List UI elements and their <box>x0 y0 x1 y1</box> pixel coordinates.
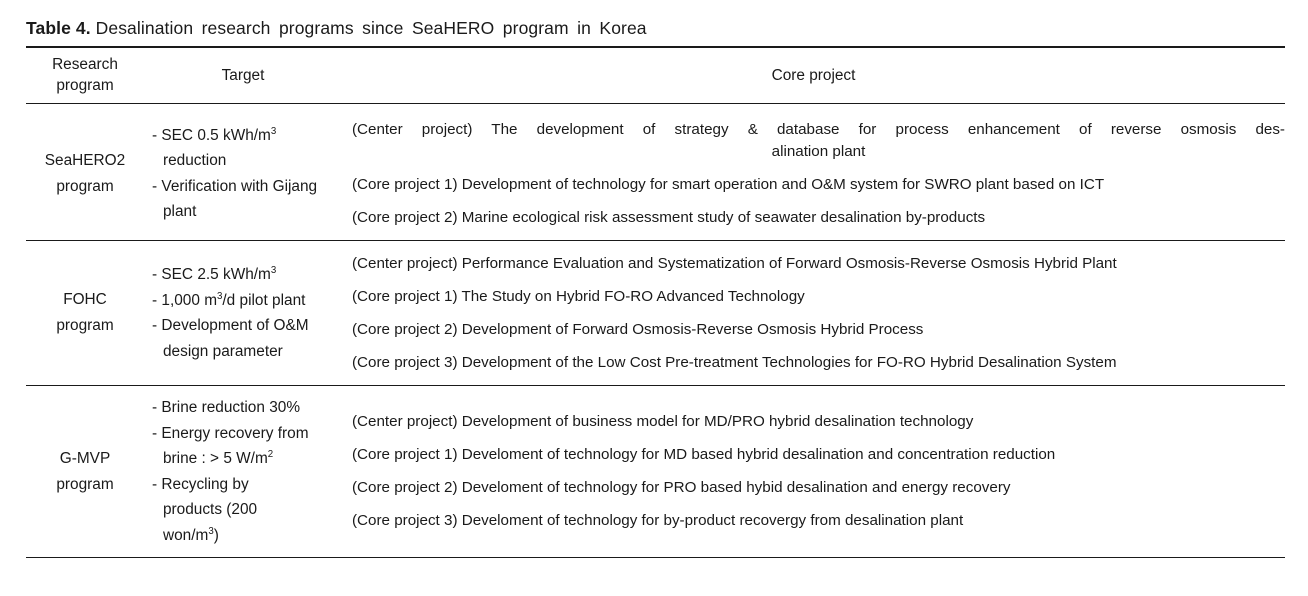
table-page: Table 4. Desalination research programs … <box>0 0 1308 596</box>
target-text-cont: design parameter <box>163 343 283 360</box>
table-head: Research program Target Core project <box>26 47 1285 104</box>
program-name-line1: FOHC <box>28 287 142 313</box>
target-text: - Development of O&M <box>152 317 309 334</box>
core-project-line2: alination plant <box>352 141 1285 163</box>
target-text-post: /d pilot plant <box>222 292 305 309</box>
core-project-item: (Core project 3) Develoment of technolog… <box>352 505 1285 538</box>
cell-target: - SEC 0.5 kWh/m3 reduction - Verificatio… <box>144 107 342 241</box>
header-program-line2: program <box>26 75 144 96</box>
target-item: - Recycling by <box>152 472 340 498</box>
program-name-line2: program <box>28 174 142 200</box>
target-text-cont: reduction <box>163 152 226 169</box>
caption-text: Desalination research programs since Sea… <box>96 18 647 38</box>
core-project-line1: (Center project) The development of stra… <box>352 119 1285 141</box>
target-text: - 1,000 m <box>152 292 217 309</box>
program-name-line2: program <box>28 472 142 498</box>
column-header-research-program: Research program <box>26 47 144 104</box>
target-text: - Energy recovery from <box>152 425 309 442</box>
column-header-target: Target <box>144 47 342 104</box>
cell-research-program: G-MVP program <box>26 386 144 558</box>
cell-target: - SEC 2.5 kWh/m3 - 1,000 m3/d pilot plan… <box>144 241 342 386</box>
program-name-line1: G-MVP <box>28 446 142 472</box>
target-item: - Verification with Gijang plant <box>152 174 340 225</box>
target-text: - SEC 2.5 kWh/m <box>152 266 271 283</box>
target-text: brine : > 5 W/m <box>163 450 268 467</box>
table-caption: Table 4. Desalination research programs … <box>26 0 1285 46</box>
program-name-line1: SeaHERO2 <box>28 148 142 174</box>
core-project-item: (Center project) The development of stra… <box>352 113 1285 168</box>
table-row: G-MVP program - Brine reduction 30% - En… <box>26 386 1285 558</box>
target-text: - SEC 0.5 kWh/m <box>152 127 271 144</box>
target-item-cont: brine : > 5 W/m2 <box>152 446 340 472</box>
target-item: - SEC 0.5 kWh/m3 reduction <box>152 123 340 174</box>
target-item-cont: products (200 <box>152 497 340 523</box>
superscript: 3 <box>271 125 276 136</box>
cell-research-program: SeaHERO2 program <box>26 107 144 241</box>
target-text: won/m <box>163 527 208 544</box>
cell-core-projects: (Center project) The development of stra… <box>342 107 1285 241</box>
core-project-item: (Core project 3) Development of the Low … <box>352 346 1285 379</box>
core-project-item: (Core project 2) Develoment of technolog… <box>352 472 1285 505</box>
caption-label: Table 4. <box>26 18 91 38</box>
header-program-line1: Research <box>26 54 144 75</box>
target-item: - 1,000 m3/d pilot plant <box>152 288 340 314</box>
cell-target: - Brine reduction 30% - Energy recovery … <box>144 386 342 558</box>
target-item: - Energy recovery from <box>152 421 340 447</box>
target-item: - SEC 2.5 kWh/m3 <box>152 262 340 288</box>
target-item-cont: won/m3) <box>152 523 340 549</box>
target-item: - Development of O&M design parameter <box>152 313 340 364</box>
target-item: - Brine reduction 30% <box>152 395 340 421</box>
target-text-post: ) <box>214 527 219 544</box>
table-body: SeaHERO2 program - SEC 0.5 kWh/m3 reduct… <box>26 104 1285 558</box>
core-project-item: (Core project 1) The Study on Hybrid FO-… <box>352 280 1285 313</box>
core-project-item: (Core project 2) Development of Forward … <box>352 313 1285 346</box>
column-header-core-project: Core project <box>342 47 1285 104</box>
header-row: Research program Target Core project <box>26 47 1285 104</box>
target-text: - Verification with <box>152 178 268 195</box>
superscript: 2 <box>268 449 273 460</box>
core-project-item: (Core project 1) Develoment of technolog… <box>352 439 1285 472</box>
superscript: 3 <box>271 265 276 276</box>
core-project-item: (Center project) Development of business… <box>352 406 1285 439</box>
table-row: SeaHERO2 program - SEC 0.5 kWh/m3 reduct… <box>26 107 1285 241</box>
cell-core-projects: (Center project) Performance Evaluation … <box>342 241 1285 386</box>
core-project-item: (Core project 2) Marine ecological risk … <box>352 201 1285 234</box>
core-project-item: (Center project) Performance Evaluation … <box>352 247 1285 280</box>
table-row: FOHC program - SEC 2.5 kWh/m3 - 1,000 m3… <box>26 241 1285 386</box>
core-project-item: (Core project 1) Development of technolo… <box>352 168 1285 201</box>
program-name-line2: program <box>28 313 142 339</box>
desalination-programs-table: Research program Target Core project Sea… <box>26 46 1285 558</box>
cell-core-projects: (Center project) Development of business… <box>342 386 1285 558</box>
cell-research-program: FOHC program <box>26 241 144 386</box>
